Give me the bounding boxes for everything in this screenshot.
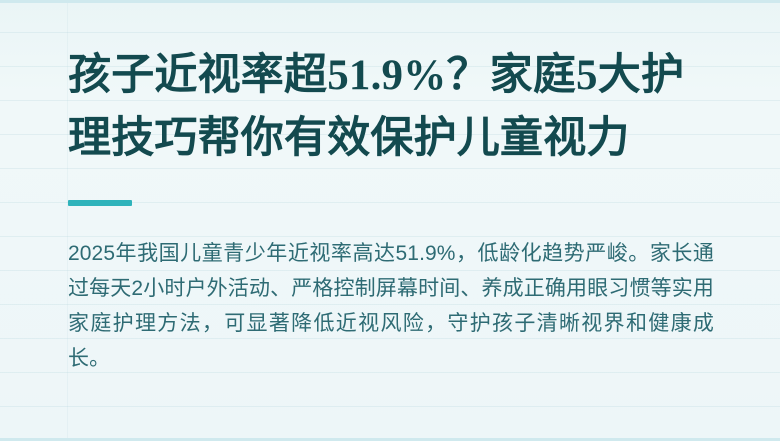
headline-title: 孩子近视率超51.9%？家庭5大护理技巧帮你有效保护儿童视力 — [68, 44, 718, 170]
summary-paragraph: 2025年我国儿童青少年近视率高达51.9%，低龄化趋势严峻。家长通过每天2小时… — [68, 236, 714, 376]
card-content: 孩子近视率超51.9%？家庭5大护理技巧帮你有效保护儿童视力 2025年我国儿童… — [68, 0, 714, 441]
accent-divider-bar — [68, 200, 132, 206]
article-card: 孩子近视率超51.9%？家庭5大护理技巧帮你有效保护儿童视力 2025年我国儿童… — [0, 0, 780, 441]
